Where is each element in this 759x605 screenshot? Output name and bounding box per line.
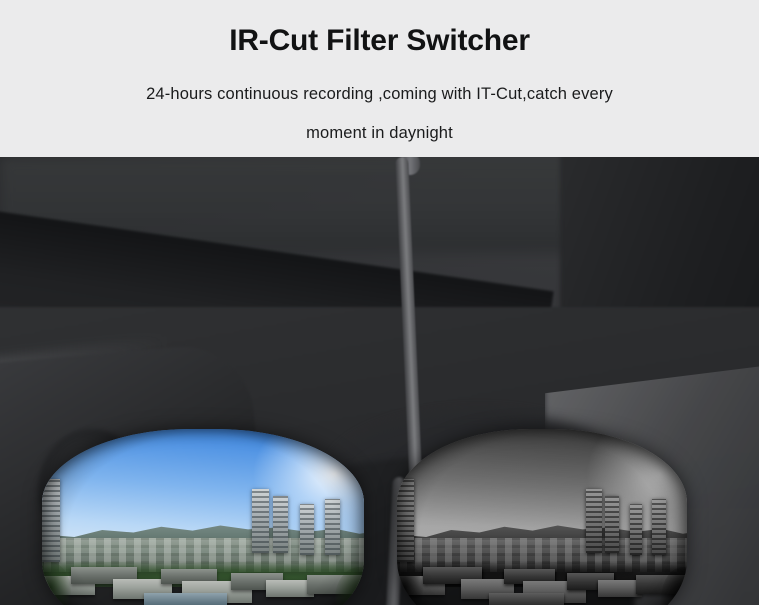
subtitle-line-2: moment in daynight (0, 114, 759, 153)
tower (397, 479, 414, 562)
building-blocks (42, 562, 364, 605)
subtitle-line-1: 24-hours continuous recording ,coming wi… (146, 85, 613, 103)
tower (586, 489, 602, 552)
building-blocks (397, 562, 687, 605)
tower (325, 499, 341, 555)
tower (652, 499, 666, 555)
page-title: IR-Cut Filter Switcher (0, 24, 759, 58)
night-scene (397, 429, 687, 605)
ir-cut-filter-banner: IR-Cut Filter Switcher 24-hours continuo… (0, 0, 759, 605)
tower (300, 504, 314, 555)
tower (273, 496, 289, 552)
banner-header: IR-Cut Filter Switcher 24-hours continuo… (0, 0, 759, 157)
preview-panel-day[interactable] (42, 429, 364, 605)
tower (42, 479, 60, 562)
page-subtitle: 24-hours continuous recording ,coming wi… (0, 75, 759, 153)
tower (252, 489, 269, 552)
product-photo: DAY NIGHT (0, 157, 759, 605)
preview-panel-night[interactable] (397, 429, 687, 605)
tower (605, 496, 619, 552)
tower (630, 504, 643, 555)
day-scene (42, 429, 364, 605)
